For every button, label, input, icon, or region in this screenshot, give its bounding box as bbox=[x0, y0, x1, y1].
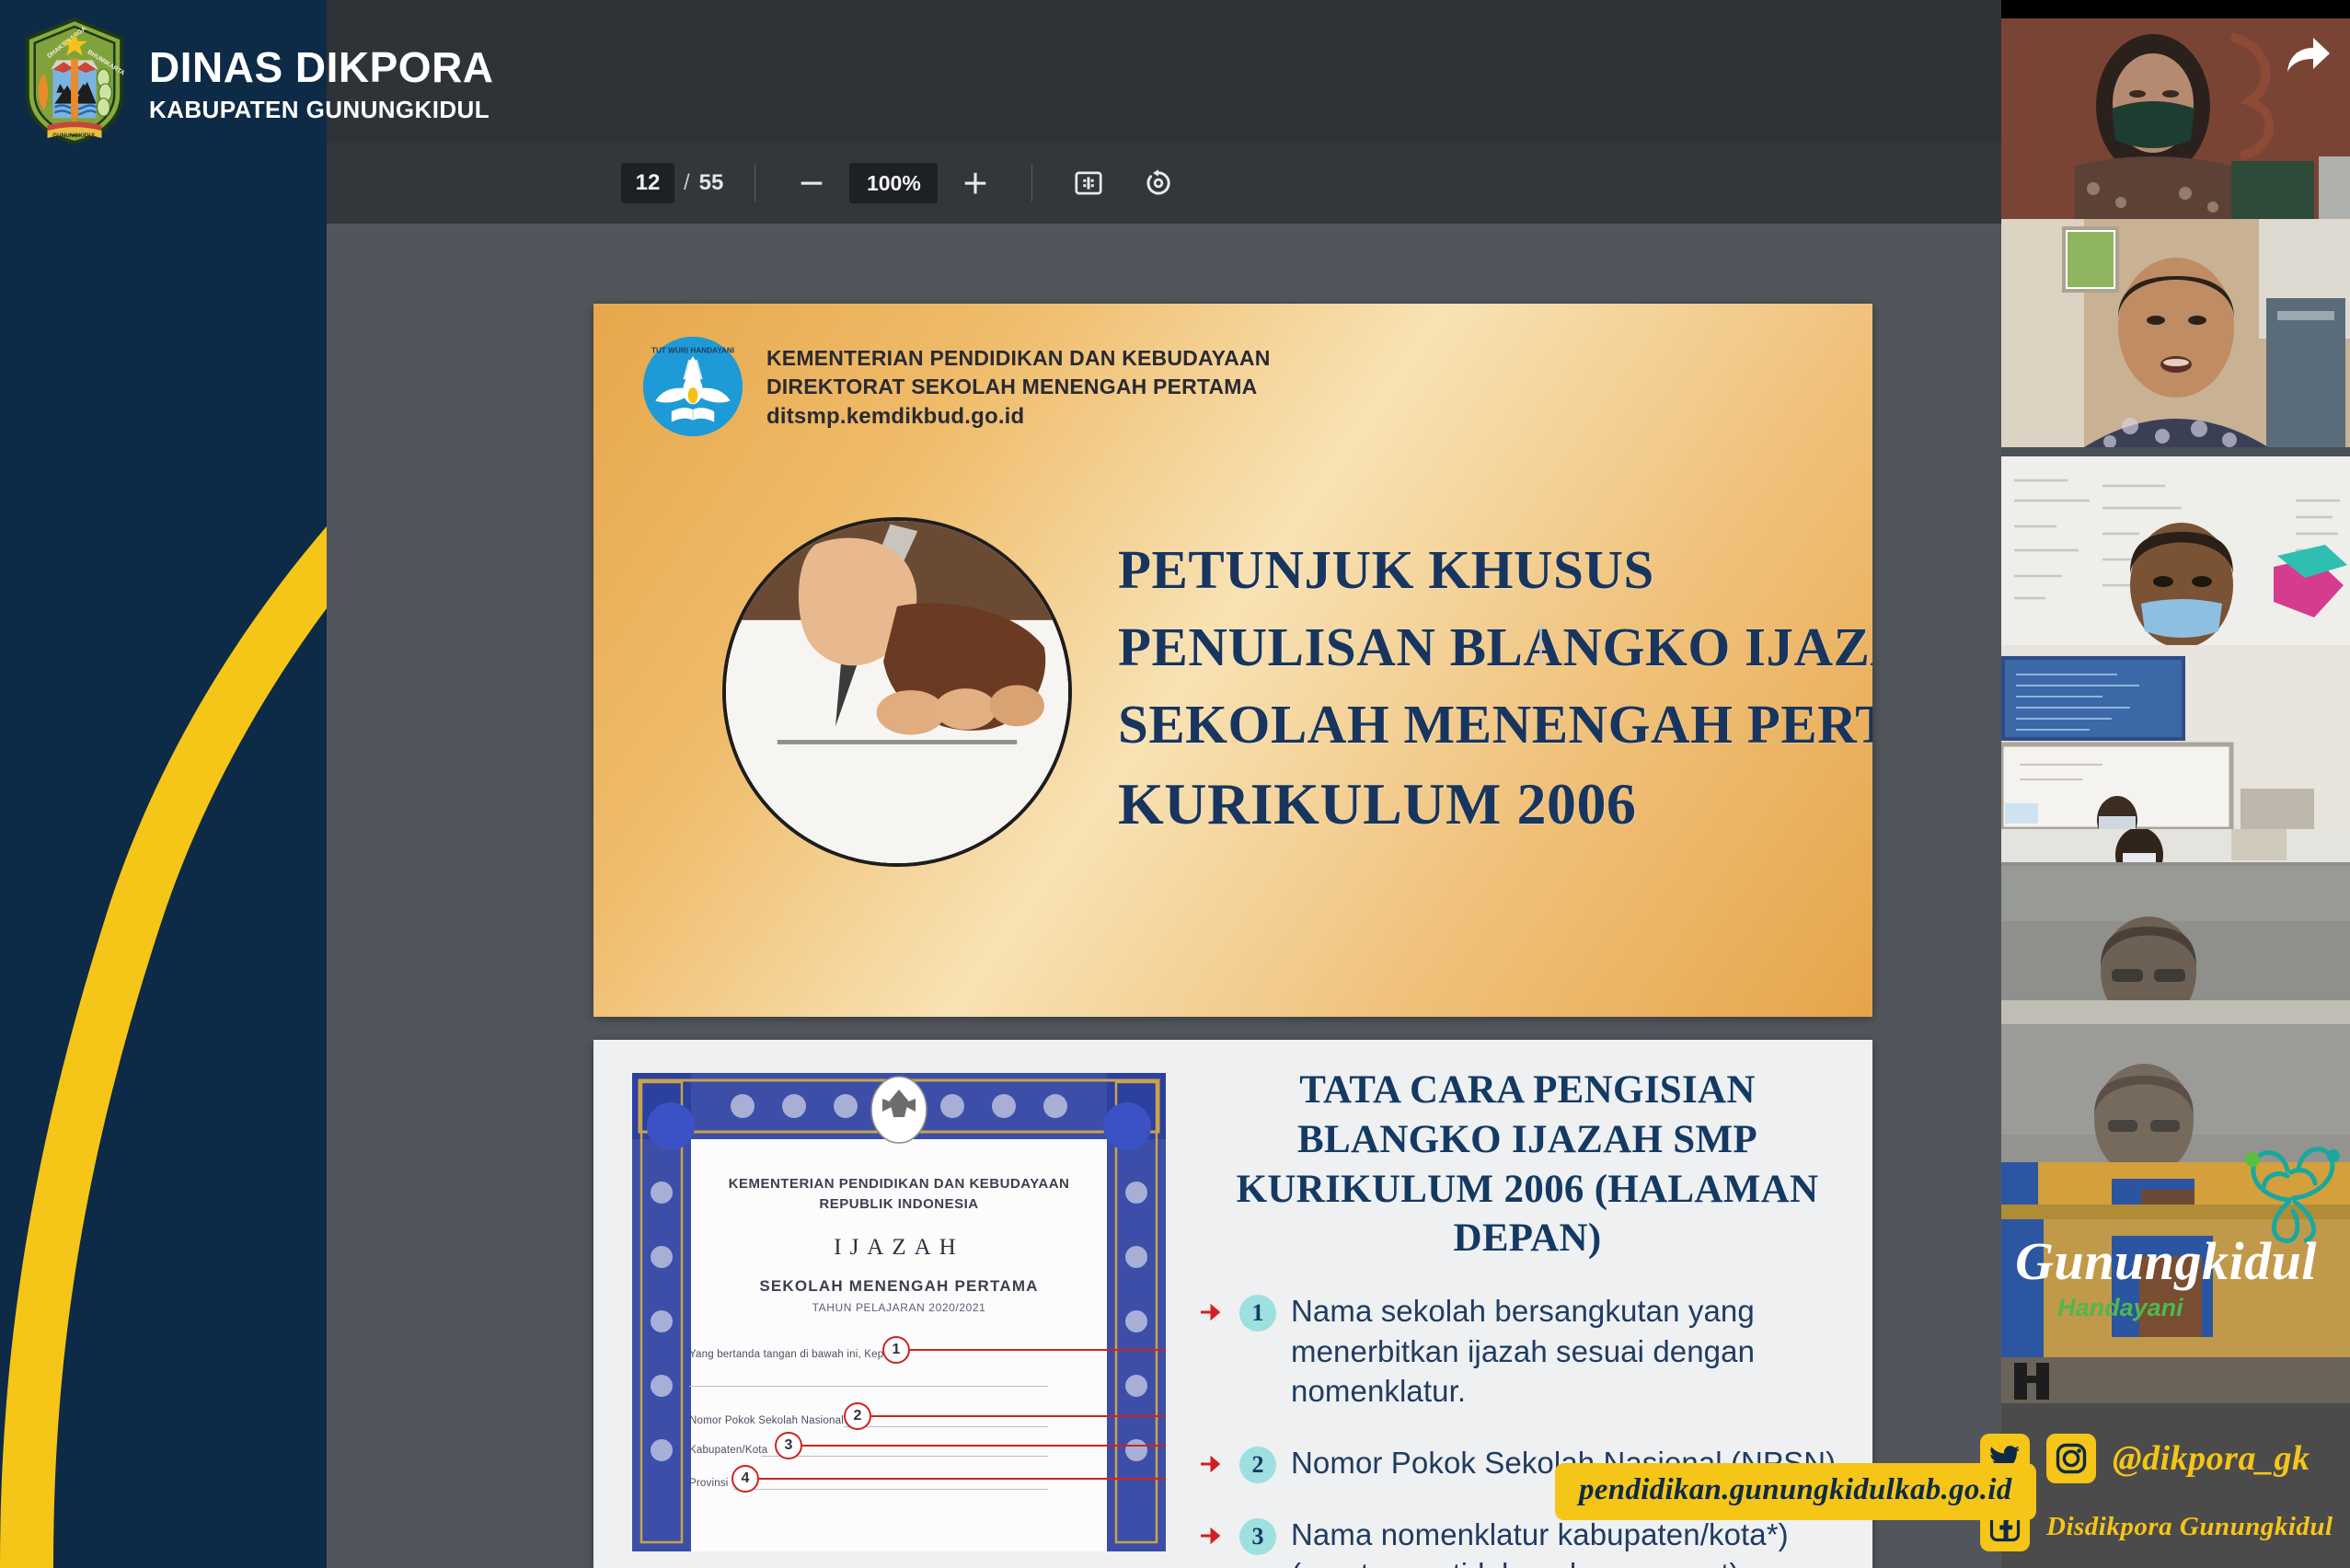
slide1-title-line-2: PENULISAN BLANGKO IJAZAH bbox=[1118, 609, 1836, 686]
header-brand-text: DINAS DIKPORA KABUPATEN GUNUNGKIDUL bbox=[149, 38, 494, 123]
social-handle[interactable]: @dikpora_gk bbox=[2113, 1438, 2310, 1479]
participant-tile-5[interactable] bbox=[2001, 829, 2350, 1024]
participant-tile-2[interactable] bbox=[2001, 219, 2350, 447]
svg-text:GUNUNGKIDUL: GUNUNGKIDUL bbox=[52, 133, 97, 139]
text-cursor bbox=[1539, 624, 1542, 664]
minus-icon bbox=[796, 167, 827, 199]
cert-callout-2: 2 bbox=[844, 1402, 871, 1430]
hand-writing-with-pen-photo bbox=[726, 521, 1068, 863]
fit-to-page-icon bbox=[1072, 167, 1105, 200]
slide1-title-line-3: SEKOLAH MENENGAH PERTAMA bbox=[1118, 686, 1836, 764]
cert-callout-4: 4 bbox=[731, 1465, 759, 1493]
list-item: 1 Nama sekolah bersangkutan yang menerbi… bbox=[1201, 1291, 1854, 1412]
arrow-right-icon bbox=[1201, 1456, 1225, 1472]
page-subtitle: KABUPATEN GUNUNGKIDUL bbox=[149, 96, 494, 124]
page-indicator: / 55 bbox=[621, 163, 723, 203]
page-number-input[interactable] bbox=[621, 163, 674, 203]
arrow-right-icon bbox=[1201, 1528, 1225, 1544]
video-strip-top-bar bbox=[2001, 0, 2350, 18]
cert-leader-3 bbox=[802, 1445, 1166, 1447]
ministry-line-1: KEMENTERIAN PENDIDIKAN DAN KEBUDAYAAN bbox=[766, 344, 1271, 373]
list-item-number: 1 bbox=[1239, 1295, 1276, 1332]
cert-leader-2 bbox=[871, 1415, 1166, 1417]
header-brand: DHAKSINARGA BHUMIKARTA GUNUNGKI bbox=[20, 17, 494, 145]
gunungkidul-tourism-logo: Gunungkidul Handayani bbox=[2015, 1235, 2317, 1322]
ministry-url: ditsmp.kemdikbud.go.id bbox=[766, 401, 1271, 432]
pdf-page-title-slide: TUT WURI HANDAYANI KEMENTERIAN PENDIDIKA… bbox=[593, 304, 1872, 1017]
slide1-header: TUT WURI HANDAYANI KEMENTERIAN PENDIDIKA… bbox=[639, 333, 1271, 440]
participant-video-5 bbox=[2001, 829, 2350, 1024]
page-total: 55 bbox=[699, 170, 724, 196]
cert-year: TAHUN PELAJARAN 2020/2021 bbox=[632, 1301, 1166, 1314]
cert-field-label-3: Kabupaten/Kota bbox=[689, 1445, 767, 1456]
list-item-text: Nama sekolah bersangkutan yang menerbitk… bbox=[1291, 1291, 1854, 1412]
list-item-number: 2 bbox=[1239, 1447, 1276, 1483]
participant-video-4 bbox=[2001, 645, 2350, 829]
cert-field-label-1: Yang bertanda tangan di bawah ini, Kepal… bbox=[689, 1349, 898, 1360]
cert-level: SEKOLAH MENENGAH PERTAMA bbox=[632, 1277, 1166, 1296]
slide2-instruction-list: 1 Nama sekolah bersangkutan yang menerbi… bbox=[1201, 1291, 1854, 1568]
share-arrow-icon[interactable] bbox=[2284, 35, 2332, 77]
zoom-out-button[interactable] bbox=[787, 158, 836, 208]
slide2-title-line-2: KURIKULUM 2006 (HALAMAN DEPAN) bbox=[1201, 1165, 1854, 1264]
gunungkidul-wordmark: Gunungkidul bbox=[2015, 1235, 2317, 1288]
list-item-number: 3 bbox=[1239, 1518, 1276, 1555]
handayani-tagline: Handayani bbox=[2057, 1294, 2317, 1322]
screen-share-stage: / 55 bbox=[0, 0, 2350, 1568]
rotate-button[interactable] bbox=[1134, 158, 1183, 208]
participant-video-3 bbox=[2001, 447, 2350, 645]
zoom-in-button[interactable] bbox=[950, 158, 1000, 208]
facebook-handle[interactable]: Disdikpora Gunungkidul bbox=[2046, 1512, 2333, 1542]
page-title: DINAS DIKPORA bbox=[149, 45, 494, 89]
cert-field-label-4: Provinsi bbox=[689, 1478, 729, 1489]
instagram-button[interactable] bbox=[2046, 1434, 2096, 1483]
rotate-icon bbox=[1142, 167, 1175, 200]
cert-rule-1 bbox=[689, 1386, 1048, 1387]
cert-leader-1 bbox=[910, 1349, 1166, 1351]
svg-text:TUT WURI HANDAYANI: TUT WURI HANDAYANI bbox=[651, 346, 734, 354]
slide1-title-line-1: PETUNJUK KHUSUS bbox=[1118, 532, 1836, 609]
cert-ministry-line-1: KEMENTERIAN PENDIDIKAN DAN KEBUDAYAAN bbox=[632, 1176, 1166, 1192]
participant-tile-1[interactable] bbox=[2001, 18, 2350, 219]
cert-heading: IJAZAH bbox=[632, 1235, 1166, 1261]
toolbar-divider-1 bbox=[755, 165, 755, 202]
cert-rule-3 bbox=[761, 1456, 1048, 1457]
website-badge[interactable]: pendidikan.gunungkidulkab.go.id bbox=[1555, 1463, 2036, 1520]
fit-to-page-button[interactable] bbox=[1064, 158, 1113, 208]
cert-rule-2 bbox=[844, 1426, 1048, 1427]
cert-callout-3: 3 bbox=[775, 1432, 802, 1459]
viewer-top-strip bbox=[327, 0, 2001, 143]
hand-writing-photo bbox=[722, 517, 1072, 867]
arrow-right-icon bbox=[1201, 1304, 1225, 1320]
slide2-title-line-1: TATA CARA PENGISIAN BLANGKO IJAZAH SMP bbox=[1201, 1066, 1854, 1165]
tut-wuri-handayani-logo: TUT WURI HANDAYANI bbox=[639, 333, 746, 440]
slide1-title-line-4: KURIKULUM 2006 bbox=[1118, 763, 1836, 847]
cert-callout-1: 1 bbox=[882, 1336, 910, 1364]
participant-video-2 bbox=[2001, 219, 2350, 447]
cert-leader-4 bbox=[759, 1478, 1166, 1480]
cert-field-label-2: Nomor Pokok Sekolah Nasional : bbox=[689, 1415, 850, 1426]
gunungkidul-regency-emblem: DHAKSINARGA BHUMIKARTA GUNUNGKI bbox=[20, 17, 129, 145]
instagram-icon bbox=[2056, 1443, 2087, 1474]
ijazah-certificate-image: KEMENTERIAN PENDIDIKAN DAN KEBUDAYAAN RE… bbox=[632, 1073, 1166, 1551]
list-item: 3 Nama nomenklatur kabupaten/kota*) (cor… bbox=[1201, 1515, 1854, 1568]
cert-ministry-line-2: REPUBLIK INDONESIA bbox=[632, 1196, 1166, 1212]
participant-tile-4[interactable] bbox=[2001, 645, 2350, 829]
pdf-viewer: / 55 bbox=[327, 0, 2001, 1568]
list-item-text: Nama nomenklatur kabupaten/kota*) (coret… bbox=[1291, 1515, 1854, 1568]
pdf-toolbar: / 55 bbox=[327, 143, 2001, 224]
cert-rule-4 bbox=[733, 1489, 1048, 1490]
page-separator: / bbox=[684, 170, 690, 196]
zoom-level-input[interactable] bbox=[849, 163, 938, 203]
ministry-line-2: DIREKTORAT SEKOLAH MENENGAH PERTAMA bbox=[766, 373, 1271, 401]
participant-tile-3[interactable] bbox=[2001, 447, 2350, 645]
slide1-ministry-block: KEMENTERIAN PENDIDIKAN DAN KEBUDAYAAN DI… bbox=[766, 333, 1271, 432]
toolbar-divider-2 bbox=[1031, 165, 1032, 202]
slide1-title-block: PETUNJUK KHUSUS PENULISAN BLANGKO IJAZAH… bbox=[1118, 532, 1836, 847]
plus-icon bbox=[960, 167, 991, 199]
